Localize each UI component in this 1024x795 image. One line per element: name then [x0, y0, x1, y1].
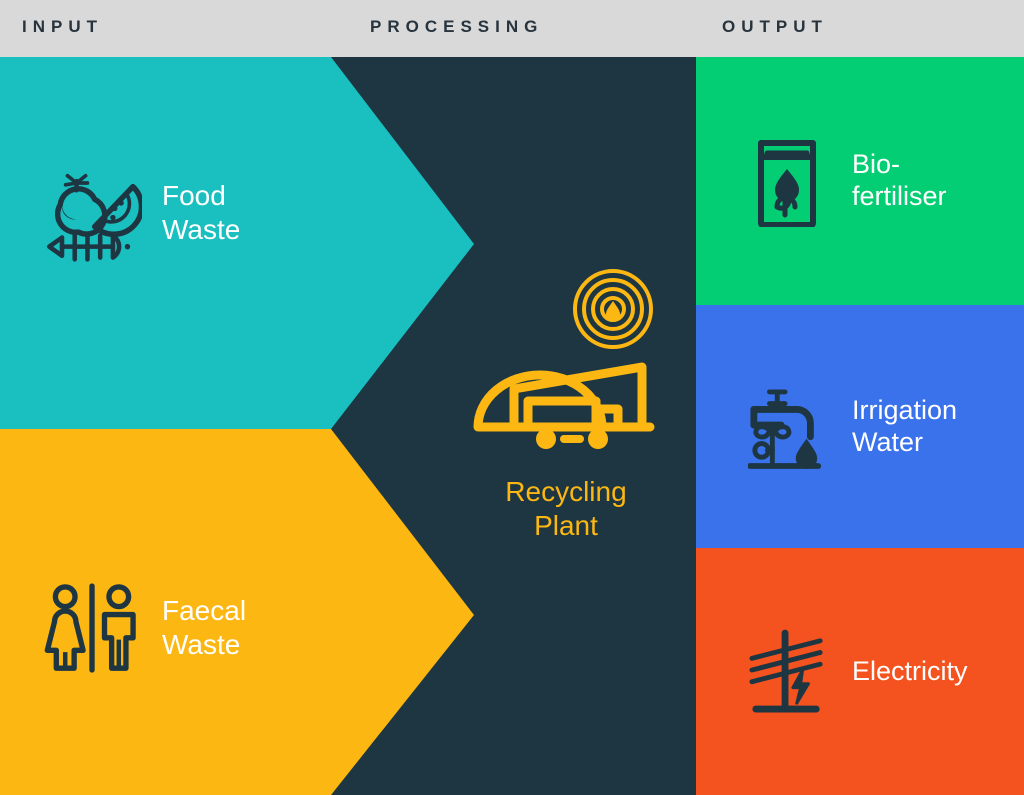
input-label-line: Waste	[162, 214, 240, 245]
output-row: Irrigation Water	[696, 305, 1024, 548]
recycling-plant-icon	[466, 267, 666, 467]
infographic-canvas: INPUT PROCESSING OUTPUT	[0, 0, 1024, 795]
output-block-bio-fertiliser[interactable]: Bio- fertiliser	[696, 57, 1024, 305]
output-label-irrigation-water: Irrigation Water	[852, 395, 957, 459]
stage-label-input: INPUT	[22, 17, 103, 37]
input-arrow-faecal-waste[interactable]: Faecal Waste	[0, 429, 474, 795]
output-row: Electricity	[696, 548, 1024, 795]
output-label-bio-fertiliser: Bio- fertiliser	[852, 149, 947, 213]
output-row: Bio- fertiliser	[696, 57, 1024, 305]
fertiliser-bag-icon	[748, 135, 826, 227]
input-label-line: Faecal	[162, 595, 246, 626]
stage-label-output: OUTPUT	[722, 17, 828, 37]
output-label-electricity: Electricity	[852, 656, 968, 688]
input-label-line: Waste	[162, 629, 240, 660]
input-label-faecal-waste: Faecal Waste	[162, 594, 246, 661]
input-label-line: Food	[162, 180, 226, 211]
output-label-line: fertiliser	[852, 181, 947, 211]
processing-label-line: Plant	[534, 510, 598, 541]
output-label-line: Water	[852, 427, 923, 457]
output-label-line: Irrigation	[852, 395, 957, 425]
restroom-icon	[42, 578, 142, 678]
output-label-line: Bio-	[852, 149, 900, 179]
diagram-board: Bio- fertiliser	[0, 57, 1024, 795]
output-block-electricity[interactable]: Electricity	[696, 548, 1024, 795]
input-row: Faecal Waste	[0, 445, 246, 795]
food-waste-icon	[42, 163, 142, 263]
input-label-food-waste: Food Waste	[162, 179, 240, 246]
power-pole-icon	[748, 626, 826, 718]
input-row: Food Waste	[0, 27, 240, 399]
processing-label-recycling-plant: Recycling Plant	[448, 475, 684, 543]
stage-label-processing: PROCESSING	[370, 17, 543, 37]
output-block-irrigation-water[interactable]: Irrigation Water	[696, 305, 1024, 548]
faucet-plant-icon	[748, 381, 826, 473]
input-arrow-food-waste[interactable]: Food Waste	[0, 57, 474, 429]
processing-block-recycling-plant[interactable]: Recycling Plant	[448, 267, 684, 543]
stage-header-bar: INPUT PROCESSING OUTPUT	[0, 0, 1024, 57]
output-label-line: Electricity	[852, 656, 968, 686]
processing-label-line: Recycling	[505, 476, 626, 507]
